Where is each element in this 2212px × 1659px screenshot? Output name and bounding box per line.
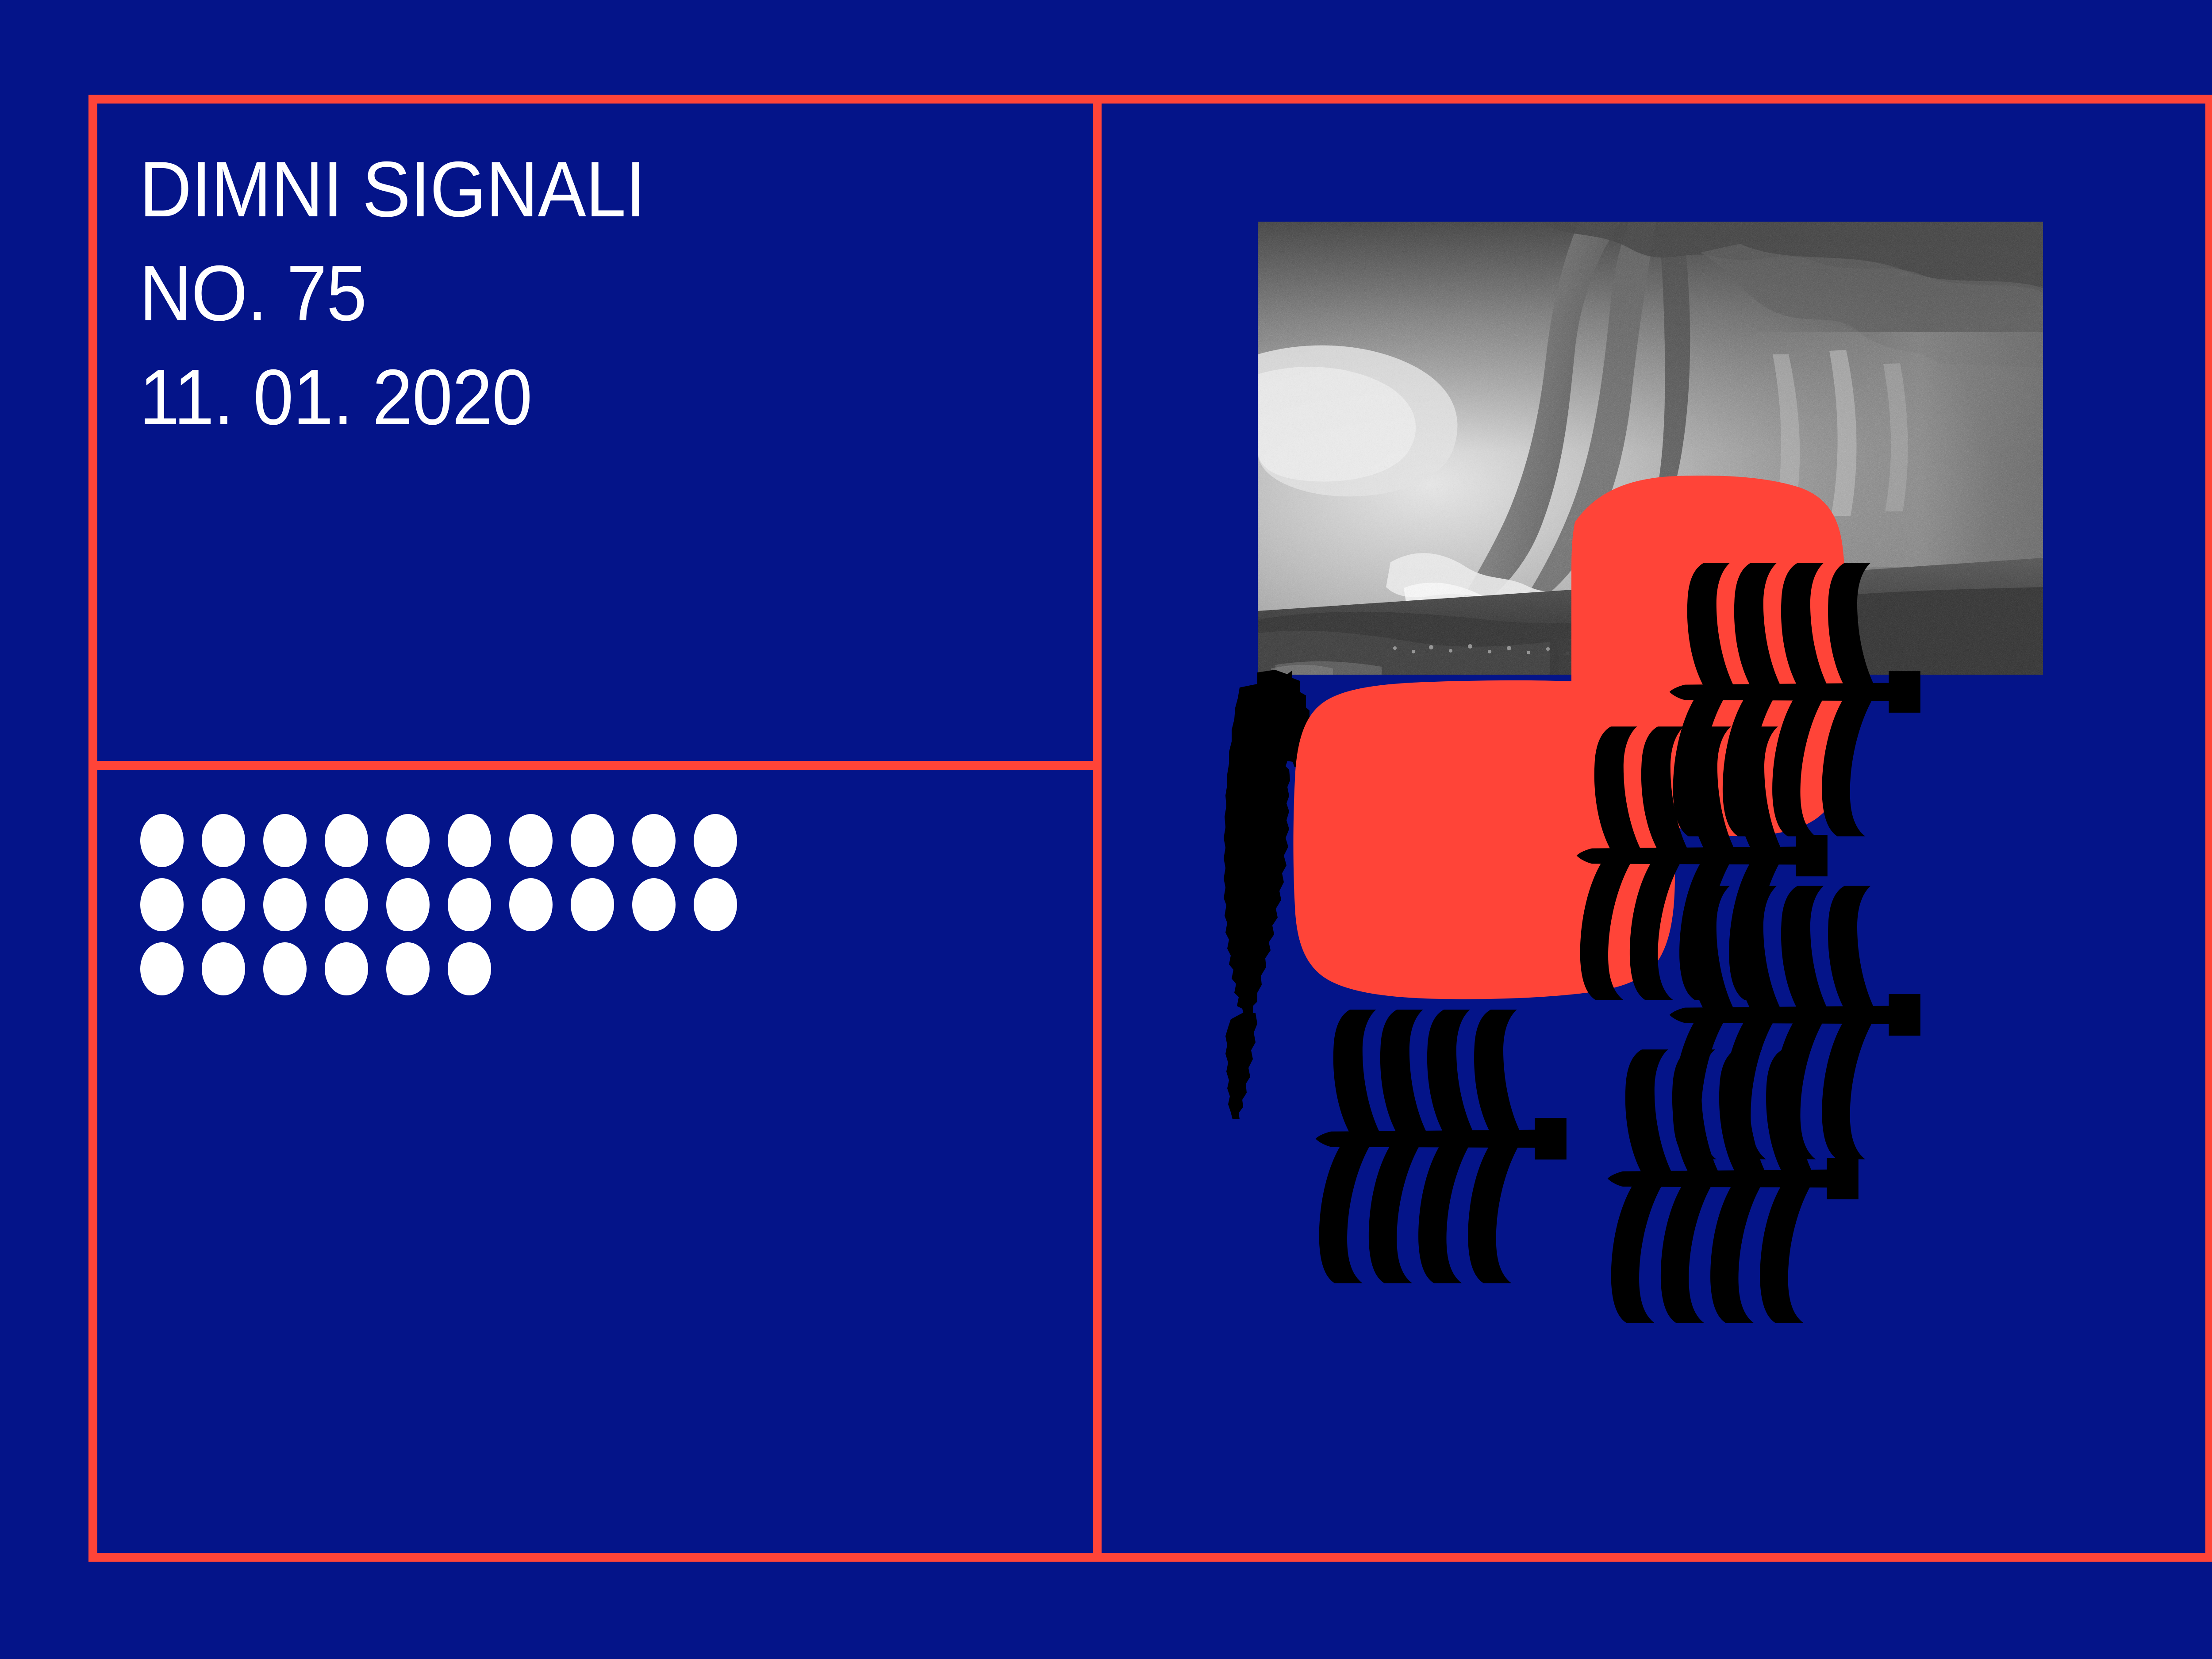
- horizontal-divider: [88, 761, 1102, 770]
- issue-date: 11. 01. 2020: [139, 358, 645, 437]
- dot: [202, 878, 245, 931]
- title-block: DIMNI SIGNALI NO. 75 11. 01. 2020: [139, 150, 689, 437]
- dot-row: [140, 942, 737, 995]
- collage-panel: [1102, 104, 2205, 1562]
- dot-row: [140, 814, 737, 867]
- dot: [325, 814, 368, 867]
- dot-grid: [140, 814, 737, 1006]
- collage-stage: [1102, 104, 2205, 1562]
- dot: [263, 878, 307, 931]
- dot: [202, 942, 245, 995]
- dot: [571, 878, 614, 931]
- dot: [140, 942, 184, 995]
- dot: [509, 878, 553, 931]
- dot: [140, 878, 184, 931]
- issue-number: NO. 75: [139, 254, 645, 333]
- dot: [263, 814, 307, 867]
- dot: [509, 814, 553, 867]
- dot: [325, 878, 368, 931]
- dot: [386, 814, 430, 867]
- dot: [694, 878, 737, 931]
- dot: [694, 814, 737, 867]
- dot: [263, 942, 307, 995]
- title-panel: DIMNI SIGNALI NO. 75 11. 01. 2020: [97, 104, 1093, 761]
- dot: [448, 814, 491, 867]
- dot: [632, 878, 676, 931]
- dot-row: [140, 878, 737, 931]
- dot: [571, 814, 614, 867]
- smoke-plume-photo: [1258, 222, 2043, 675]
- dot: [632, 814, 676, 867]
- dot: [386, 942, 430, 995]
- dot: [325, 942, 368, 995]
- dot: [202, 814, 245, 867]
- dot: [140, 814, 184, 867]
- dot: [386, 878, 430, 931]
- dot: [448, 878, 491, 931]
- publication-title: DIMNI SIGNALI: [139, 150, 645, 229]
- dot-grid-panel: [97, 770, 1093, 1562]
- poster-canvas: DIMNI SIGNALI NO. 75 11. 01. 2020: [0, 0, 2212, 1659]
- vertical-divider: [1093, 95, 1102, 1562]
- dot: [448, 942, 491, 995]
